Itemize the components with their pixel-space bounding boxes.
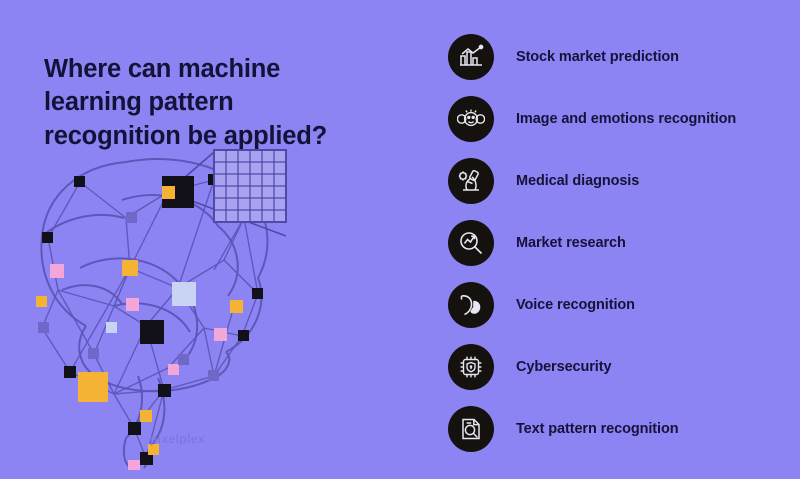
voice-wave-icon <box>448 282 494 328</box>
list-item[interactable]: Text pattern recognition <box>448 398 792 460</box>
infographic-poster: Where can machine learning pattern recog… <box>0 0 800 479</box>
microscope-icon <box>448 158 494 204</box>
list-item-label: Stock market prediction <box>516 49 679 65</box>
node-lightblue <box>172 282 196 306</box>
pattern-grid <box>214 150 286 222</box>
list-item[interactable]: Cybersecurity <box>448 336 792 398</box>
list-item-label: Cybersecurity <box>516 359 611 375</box>
list-item[interactable]: Stock market prediction <box>448 26 792 88</box>
page-title: Where can machine learning pattern recog… <box>44 53 334 153</box>
watermark: pixelplex <box>150 432 205 446</box>
list-item-label: Image and emotions recognition <box>516 111 736 127</box>
list-item-label: Text pattern recognition <box>516 421 678 437</box>
stock-chart-icon <box>448 34 494 80</box>
brain-neural-network-illustration <box>18 140 328 470</box>
node-yellow-large <box>78 372 108 402</box>
list-item[interactable]: Market research <box>448 212 792 274</box>
magnifier-chart-icon <box>448 220 494 266</box>
application-list: Stock market prediction Image and emotio… <box>448 26 792 460</box>
chip-shield-icon <box>448 344 494 390</box>
document-magnifier-icon <box>448 406 494 452</box>
list-item[interactable]: Image and emotions recognition <box>448 88 792 150</box>
node-black-mid <box>140 320 164 344</box>
list-item-label: Medical diagnosis <box>516 173 639 189</box>
list-item[interactable]: Medical diagnosis <box>448 150 792 212</box>
faces-emotion-icon <box>448 96 494 142</box>
list-item-label: Market research <box>516 235 626 251</box>
list-item[interactable]: Voice recognition <box>448 274 792 336</box>
list-item-label: Voice recognition <box>516 297 635 313</box>
